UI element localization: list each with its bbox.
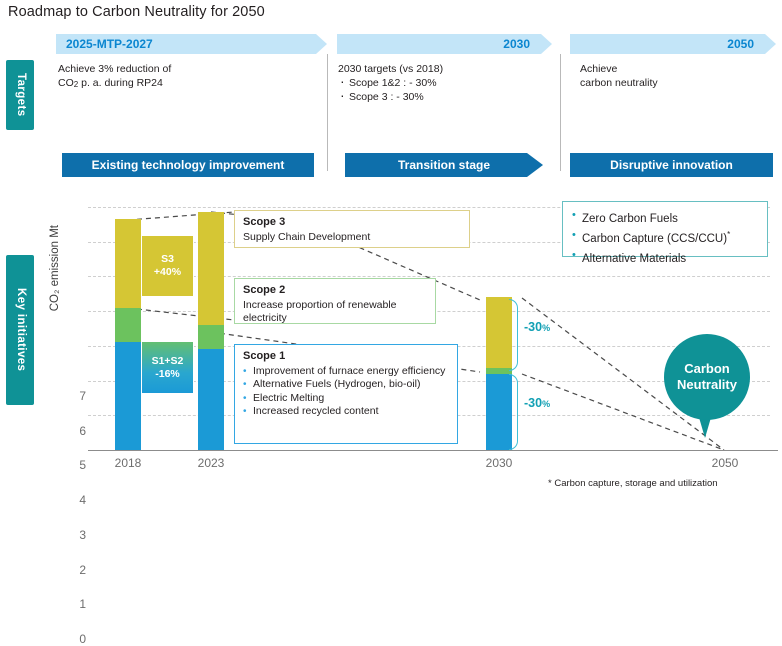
callout-scope-1-bullet-4: Increased recycled content (243, 405, 449, 419)
y-tick-4: 4 (64, 493, 86, 507)
stage-banner-existing-technology: Existing technology improvement (62, 153, 314, 177)
target-2030-bullets: Scope 1&2 : - 30% Scope 3 : - 30% (338, 76, 548, 104)
inset-scope3-growth: S3 +40% (141, 235, 194, 297)
footnote: * Carbon capture, storage and utilizatio… (548, 478, 782, 489)
x-label-2018: 2018 (98, 456, 158, 470)
inset-scope12-reduction: S1+S2 -16% (141, 341, 194, 394)
x-label-2050: 2050 (695, 456, 755, 470)
x-label-2030: 2030 (469, 456, 529, 470)
y-tick-2: 2 (64, 563, 86, 577)
carbon-neutrality-bubble: Carbon Neutrality (664, 334, 750, 420)
label-scope3-reduction: -30% (524, 320, 550, 334)
target-2030-heading: 2030 targets (vs 2018) (338, 62, 548, 76)
section-label-key-initiatives: Key initiatives (6, 255, 34, 405)
inset-scope12-line2: -16% (155, 368, 180, 381)
y-tick-1: 1 (64, 597, 86, 611)
target-2025-line1: Achieve 3% reduction of (58, 62, 308, 76)
callout-disruptive-innovation: Zero Carbon Fuels Carbon Capture (CCS/CC… (562, 201, 768, 257)
callout-scope-1: Scope 1 Improvement of furnace energy ef… (234, 344, 458, 444)
innovation-list: Zero Carbon Fuels Carbon Capture (CCS/CC… (571, 207, 759, 266)
target-description-2025: Achieve 3% reduction of CO2 p. a. during… (58, 62, 308, 92)
target-2025-line2: CO2 p. a. during RP24 (58, 76, 308, 92)
callout-scope-2-body: Increase proportion of renewable electri… (243, 299, 397, 325)
y-tick-6: 6 (64, 424, 86, 438)
callout-scope-2-heading: Scope 2 (243, 284, 427, 298)
callout-scope-1-heading: Scope 1 (243, 350, 449, 364)
column-divider-right (560, 54, 561, 171)
x-axis-line (88, 450, 778, 451)
callout-scope-1-bullet-3: Electric Melting (243, 392, 449, 406)
callout-scope-1-bullets: Improvement of furnace energy efficiency… (243, 365, 449, 419)
bar-2018 (115, 219, 141, 450)
target-2030-bullet-2: Scope 3 : - 30% (338, 90, 548, 104)
timeline-band-2050: 2050 (570, 34, 776, 54)
innovation-item-2: Carbon Capture (CCS/CCU)* (571, 227, 759, 247)
bar-segment-2023-scope-3 (198, 212, 224, 325)
section-label-key-initiatives-text: Key initiatives (14, 288, 26, 371)
roadmap-infographic: Roadmap to Carbon Neutrality for 2050 Ta… (0, 0, 782, 503)
timeline-band-2030: 2030 (337, 34, 552, 54)
stage-banner-transition: Transition stage (345, 153, 543, 177)
y-tick-7: 7 (64, 389, 86, 403)
callout-scope-3-heading: Scope 3 (243, 216, 461, 230)
column-divider-left (327, 54, 328, 171)
section-label-targets: Targets (6, 60, 34, 130)
stage-banner-disruptive-innovation: Disruptive innovation (570, 153, 773, 177)
callout-scope-1-bullet-2: Alternative Fuels (Hydrogen, bio-oil) (243, 378, 449, 392)
target-2030-bullet-1: Scope 1&2 : - 30% (338, 76, 548, 90)
bar-segment-2018-scope-3 (115, 219, 141, 308)
bar-segment-2018-scope-1 (115, 342, 141, 450)
target-description-2030: 2030 targets (vs 2018) Scope 1&2 : - 30%… (338, 62, 548, 104)
timeline-band-2025-mtp-2027: 2025-MTP-2027 (56, 34, 327, 54)
inset-scope3-line2: +40% (154, 266, 181, 279)
target-2050-line1: Achieve (580, 62, 770, 76)
bracket-scope12-reduction (509, 374, 518, 450)
carbon-neutrality-line2: Neutrality (677, 377, 737, 393)
callout-scope-1-bullet-1: Improvement of furnace energy efficiency (243, 365, 449, 379)
bar-segment-2023-scope-1 (198, 349, 224, 450)
target-description-2050: Achieve carbon neutrality (580, 62, 770, 90)
innovation-item-3: Alternative Materials (571, 247, 759, 267)
bar-2023 (198, 212, 224, 450)
y-tick-5: 5 (64, 458, 86, 472)
carbon-neutrality-line1: Carbon (684, 361, 730, 377)
y-tick-0: 0 (64, 632, 86, 646)
bracket-scope3-reduction (509, 299, 518, 371)
inset-scope3-line1: S3 (161, 253, 174, 266)
callout-scope-2: Scope 2 Increase proportion of renewable… (234, 278, 436, 324)
callout-scope-3-body: Supply Chain Development (243, 231, 370, 243)
inset-scope12-line1: S1+S2 (152, 355, 184, 368)
y-tick-3: 3 (64, 528, 86, 542)
section-label-targets-text: Targets (14, 73, 26, 117)
y-axis-ticks: 01234567 (62, 190, 86, 460)
bar-segment-2023-scope-2 (198, 325, 224, 349)
innovation-item-1: Zero Carbon Fuels (571, 207, 759, 227)
label-scope12-reduction: -30% (524, 396, 550, 410)
bar-segment-2018-scope-2 (115, 308, 141, 343)
target-2050-line2: carbon neutrality (580, 76, 770, 90)
x-label-2023: 2023 (181, 456, 241, 470)
page-title: Roadmap to Carbon Neutrality for 2050 (8, 4, 608, 20)
callout-scope-3: Scope 3 Supply Chain Development (234, 210, 470, 248)
